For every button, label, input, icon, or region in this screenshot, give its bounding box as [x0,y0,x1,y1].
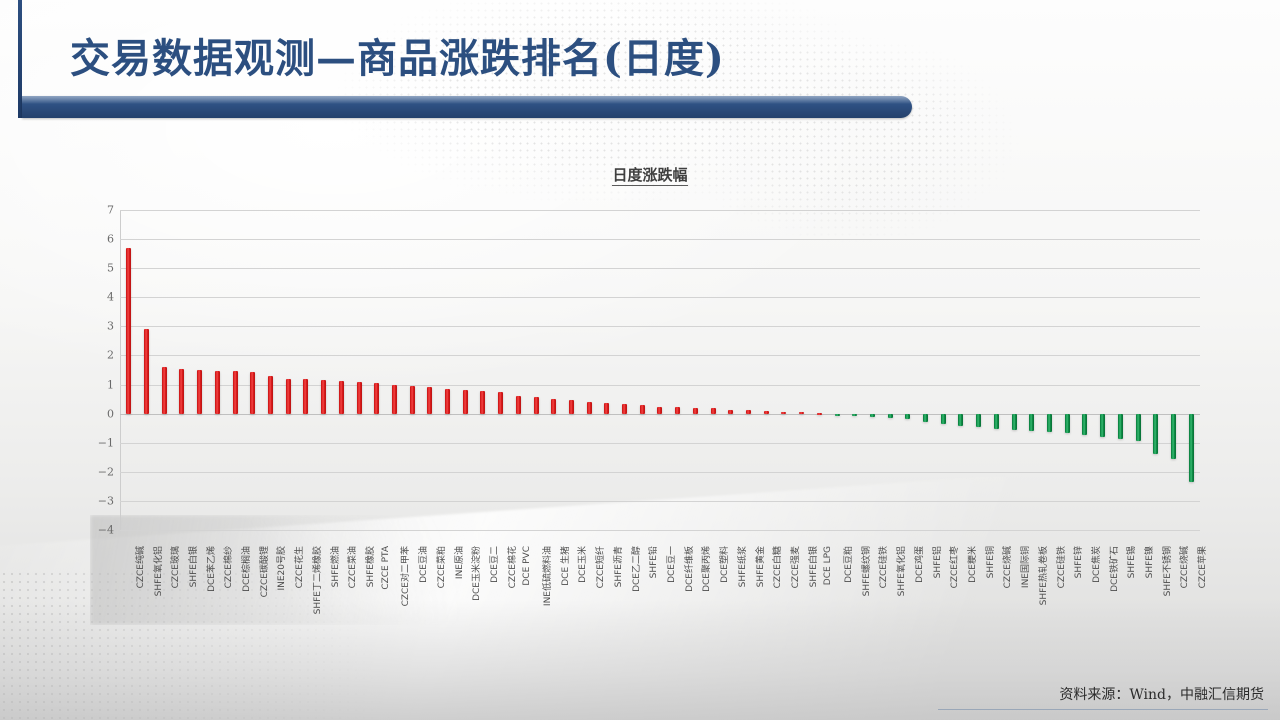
y-axis-tick-label: −3 [54,494,114,507]
bar-column[interactable] [598,210,616,530]
chart-title: 日度涨跌幅 [80,164,1220,185]
bar-column[interactable] [244,210,262,530]
bar-column[interactable] [120,210,138,530]
bar-positive[interactable] [463,390,468,414]
bar-negative[interactable] [941,414,946,424]
bar-column[interactable] [332,210,350,530]
x-axis-tick-label: INE低硫燃料油 [540,546,553,606]
bar-column[interactable] [138,210,156,530]
x-axis-tick-label: SHFE沥青 [611,546,624,587]
bar-column[interactable] [1023,210,1041,530]
bar-column[interactable] [864,210,882,530]
y-axis-tick-label: 2 [54,349,114,362]
x-axis-tick-label: CZCE白糖 [770,546,783,588]
x-axis-tick-label: CZCE菜油 [345,546,358,588]
x-axis-tick-label: DCE塑料 [717,546,730,583]
bar-column[interactable] [350,210,368,530]
bar-positive[interactable] [781,412,786,414]
bar-positive[interactable] [657,407,662,414]
x-axis-tick-label: DCE焦炭 [1089,546,1102,583]
title-underline-bar-highlight [22,96,912,104]
bar-column[interactable] [1058,210,1076,530]
bar-negative[interactable] [1189,414,1194,482]
x-axis-tick-label: CZCE硅铁 [876,546,889,588]
x-axis-tick-label: CZCE烧碱 [1177,546,1190,588]
y-axis-tick-label: 7 [54,204,114,217]
bar-column[interactable] [988,210,1006,530]
bar-column[interactable] [793,210,811,530]
bar-column[interactable] [740,210,758,530]
x-axis-tick-label: SHFE白银 [806,546,819,587]
bar-positive[interactable] [233,371,238,413]
x-axis-tick-label: CZCE红枣 [947,546,960,588]
bar-column[interactable] [510,210,528,530]
x-axis-tick-label: SHFE氧化铝 [894,546,907,596]
bar-negative[interactable] [835,414,840,416]
bar-positive[interactable] [357,382,362,413]
x-axis-tick-label: DCE豆二 [487,546,500,583]
bar-column[interactable] [368,210,386,530]
bar-positive[interactable] [640,405,645,413]
x-axis-tick-label: SHFE橡胶 [363,546,376,587]
bar-negative[interactable] [905,414,910,420]
commodity-change-bar-chart: 日度涨跌幅 76543210−1−2−3−4 CZCE纯碱SHFE氧化铝CZCE… [80,150,1220,550]
x-axis-tick-label: DCE粳米 [965,546,978,583]
bar-column[interactable] [191,210,209,530]
bar-positive[interactable] [604,403,609,413]
x-axis-tick-label: SHFE燃油 [328,546,341,587]
bar-column[interactable] [492,210,510,530]
x-axis-tick-label: DCE 生猪 [558,546,571,586]
bar-positive[interactable] [480,391,485,414]
bar-column[interactable] [899,210,917,530]
bar-positive[interactable] [799,412,804,414]
bar-negative[interactable] [1082,414,1087,436]
y-axis-tick-label: 3 [54,320,114,333]
x-axis-tick-label: CZCE玻璃 [168,546,181,588]
bar-negative[interactable] [1065,414,1070,434]
x-axis-tick-label: CZCE烧碱 [1000,546,1013,588]
x-axis-tick-label: CZCE纯碱 [133,546,146,588]
x-axis-tick-label: INE原油 [452,546,465,579]
bar-column[interactable] [687,210,705,530]
bar-column[interactable] [1147,210,1165,530]
bar-negative[interactable] [923,414,928,422]
bar-column[interactable] [952,210,970,530]
y-axis-tick-label: −4 [54,524,114,537]
x-axis-tick-label: CZCE对二甲苯 [398,546,411,606]
bar-positive[interactable] [321,380,326,413]
x-axis-tick-label: INE国际铜 [1018,546,1031,588]
x-axis-tick-label: CZCE苹果 [1195,546,1208,588]
x-axis-tick-label: SHFE丁二烯橡胶 [310,546,323,614]
bar-column[interactable] [173,210,191,530]
bar-column[interactable] [1129,210,1147,530]
bar-column[interactable] [1165,210,1183,530]
bar-column[interactable] [563,210,581,530]
x-axis-tick-label: SHFE锌 [1071,546,1084,578]
bar-positive[interactable] [445,389,450,414]
bar-positive[interactable] [286,379,291,414]
y-axis-tick-label: −2 [54,465,114,478]
bar-column[interactable] [757,210,775,530]
x-axis-tick-label: DCE玉米淀粉 [469,546,482,601]
bar-column[interactable] [881,210,899,530]
x-axis-tick-label: CZCE棉花 [505,546,518,588]
bar-column[interactable] [669,210,687,530]
bar-positive[interactable] [250,372,255,413]
x-axis-tick-label: DCE鸡蛋 [912,546,925,583]
bar-positive[interactable] [587,402,592,414]
bar-positive[interactable] [516,396,521,414]
bar-positive[interactable] [339,381,344,414]
bar-column[interactable] [209,210,227,530]
bar-positive[interactable] [569,400,574,413]
x-axis-tick-label: SHFE螺纹钢 [859,546,872,596]
bar-column[interactable] [439,210,457,530]
bar-column[interactable] [1094,210,1112,530]
bar-series [120,210,1200,530]
gridline [120,530,1200,531]
bar-negative[interactable] [1012,414,1017,430]
x-axis-tick-label: CZCE花生 [292,546,305,588]
bar-positive[interactable] [126,248,131,414]
bar-positive[interactable] [303,379,308,413]
source-divider [938,709,1268,710]
y-axis-tick-label: 1 [54,378,114,391]
bar-column[interactable] [474,210,492,530]
bar-negative[interactable] [1136,414,1141,441]
x-axis-tick-label: SHFE纸浆 [735,546,748,587]
x-axis-tick-label: CZCE碳酸锂 [257,546,270,597]
bar-positive[interactable] [675,407,680,413]
bar-negative[interactable] [1171,414,1176,459]
bar-column[interactable] [934,210,952,530]
bar-negative[interactable] [1047,414,1052,433]
x-axis-tick-label: DCE豆油 [416,546,429,583]
y-axis-tick-label: 4 [54,291,114,304]
y-axis-tick-label: 0 [54,407,114,420]
x-axis-tick-label: SHFE氧化铝 [151,546,164,596]
bar-positive[interactable] [215,371,220,414]
x-axis-tick-label: SHFE锡 [1124,546,1137,578]
x-axis-tick-label: SHFE热轧卷板 [1036,546,1049,605]
bar-column[interactable] [633,210,651,530]
bar-negative[interactable] [1100,414,1105,438]
bar-positive[interactable] [179,369,184,413]
bar-positive[interactable] [197,370,202,414]
bar-column[interactable] [1076,210,1094,530]
bar-column[interactable] [722,210,740,530]
bar-negative[interactable] [1118,414,1123,440]
bar-column[interactable] [704,210,722,530]
bar-column[interactable] [226,210,244,530]
chart-title-text: 日度涨跌幅 [612,166,687,186]
bar-column[interactable] [456,210,474,530]
bar-negative[interactable] [958,414,963,426]
x-axis-tick-label: DCE苯乙烯 [204,546,217,592]
bar-column[interactable] [279,210,297,530]
bar-column[interactable] [421,210,439,530]
bar-positive[interactable] [374,383,379,413]
x-axis-tick-label: INE20号胶 [274,546,287,591]
bar-positive[interactable] [728,410,733,414]
bar-column[interactable] [1182,210,1200,530]
x-axis-tick-label: DCE LPG [823,546,833,585]
bar-negative[interactable] [888,414,893,419]
x-axis-tick-label: DCE豆一 [664,546,677,583]
bar-column[interactable] [917,210,935,530]
bar-positive[interactable] [817,413,822,415]
bar-positive[interactable] [427,387,432,413]
bar-positive[interactable] [711,408,716,413]
bar-positive[interactable] [551,399,556,414]
bar-column[interactable] [297,210,315,530]
bar-positive[interactable] [498,392,503,414]
y-axis-tick-label: 5 [54,262,114,275]
x-axis-tick-label: CZCE PTA [381,546,391,590]
bar-negative[interactable] [976,414,981,427]
bar-negative[interactable] [1029,414,1034,431]
bar-column[interactable] [828,210,846,530]
x-axis-tick-label: SHFE铅 [646,546,659,578]
bar-column[interactable] [580,210,598,530]
bar-positive[interactable] [162,367,167,414]
plot-area: 76543210−1−2−3−4 CZCE纯碱SHFE氧化铝CZCE玻璃SHFE… [120,210,1200,530]
bar-column[interactable] [545,210,563,530]
bar-positive[interactable] [693,408,698,414]
bar-column[interactable] [810,210,828,530]
bar-column[interactable] [1041,210,1059,530]
x-axis-tick-label: DCE PVC [522,546,532,586]
bar-negative[interactable] [994,414,999,429]
source-note: 资料来源：Wind，中融汇信期货 [1059,684,1264,704]
bar-column[interactable] [386,210,404,530]
x-axis-tick-label: CZCE菜粕 [434,546,447,588]
bar-positive[interactable] [410,386,415,414]
bar-column[interactable] [527,210,545,530]
bar-negative[interactable] [852,414,857,416]
x-axis-tick-label: CZCE短纤 [593,546,606,588]
x-axis-tick-label: DCE棕榈油 [239,546,252,592]
x-axis-tick-label: DCE纤维板 [682,546,695,592]
bar-positive[interactable] [144,329,149,413]
bar-column[interactable] [403,210,421,530]
bar-positive[interactable] [764,411,769,414]
x-axis-tick-label: DCE铁矿石 [1107,546,1120,592]
bar-negative[interactable] [1153,414,1158,455]
x-axis-tick-label: DCE聚丙烯 [699,546,712,592]
bar-column[interactable] [315,210,333,530]
bar-column[interactable] [651,210,669,530]
x-axis-tick-label: DCE豆粕 [841,546,854,583]
x-axis-tick-label: SHFE黄金 [753,546,766,587]
x-axis-tick-label: SHFE不锈钢 [1160,546,1173,596]
x-axis-tick-label: CZCE棉纱 [221,546,234,588]
bar-column[interactable] [1005,210,1023,530]
x-axis-tick-label: SHFE铜 [983,546,996,578]
page-title: 交易数据观测—商品涨跌排名(日度) [70,30,725,88]
bar-positive[interactable] [534,397,539,413]
bar-column[interactable] [846,210,864,530]
x-axis-tick-label: DCE玉米 [575,546,588,583]
bar-positive[interactable] [746,410,751,413]
bar-negative[interactable] [870,414,875,417]
bar-column[interactable] [970,210,988,530]
y-axis-tick-label: 6 [54,233,114,246]
bar-positive[interactable] [392,385,397,414]
x-axis-tick-label: CZCE硅铁 [1054,546,1067,588]
x-axis-tick-label: DCE乙二醇 [629,546,642,592]
y-axis-tick-label: −1 [54,436,114,449]
bar-column[interactable] [262,210,280,530]
bar-column[interactable] [775,210,793,530]
x-axis-tick-label: CZCE强麦 [788,546,801,588]
x-axis-tick-label: SHFE白银 [186,546,199,587]
bar-column[interactable] [155,210,173,530]
x-axis-tick-label: SHFE铝 [930,546,943,578]
bar-positive[interactable] [268,376,273,414]
x-axis-tick-label: SHFE镍 [1142,546,1155,578]
bar-column[interactable] [616,210,634,530]
bar-positive[interactable] [622,404,627,413]
bar-column[interactable] [1111,210,1129,530]
